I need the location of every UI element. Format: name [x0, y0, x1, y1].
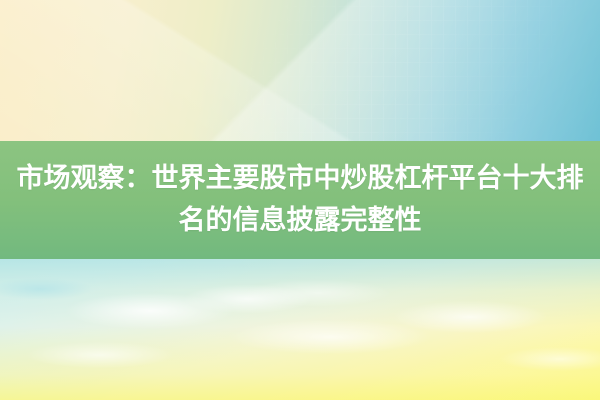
lower-sky-vertical-tint	[0, 259, 600, 400]
diagonal-light-wedge-primary	[0, 0, 600, 160]
banner-title: 市场观察：世界主要股市中炒股杠杆平台十大排名的信息披露完整性	[6, 158, 594, 242]
title-band: 市场观察：世界主要股市中炒股杠杆平台十大排名的信息披露完整性	[0, 141, 600, 259]
upper-gradient-background	[0, 0, 600, 160]
grid-texture-overlay	[0, 0, 600, 160]
cloud-overlay	[0, 259, 600, 400]
diagonal-light-wedge-secondary	[0, 0, 600, 160]
lower-sky-gradient	[0, 259, 600, 400]
article-banner: 市场观察：世界主要股市中炒股杠杆平台十大排名的信息披露完整性	[0, 0, 600, 400]
